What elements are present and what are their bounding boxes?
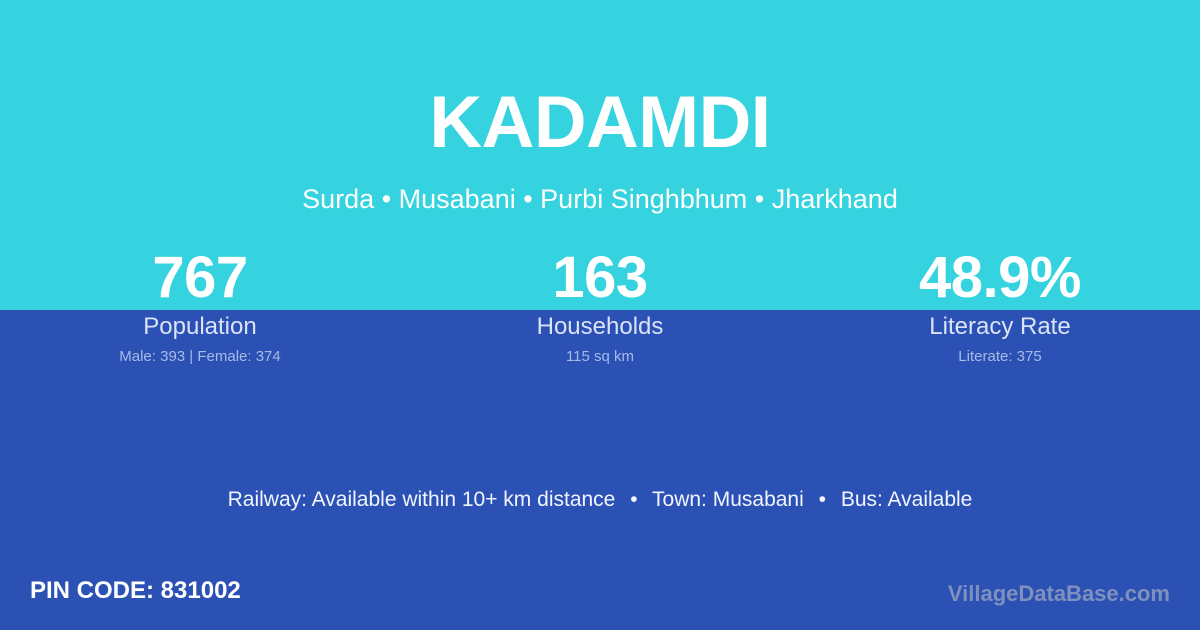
info-separator-2: • (810, 488, 835, 511)
stat-population: 767 Population Male: 393 | Female: 374 (0, 247, 400, 366)
stat-households: 163 Households 115 sq km (400, 247, 800, 366)
info-separator-1: • (621, 488, 646, 511)
population-label: Population (0, 313, 400, 341)
literacy-rate-label: Literacy Rate (800, 313, 1200, 341)
pin-code: PIN CODE: 831002 (30, 576, 241, 606)
transport-info-row: Railway: Available within 10+ km distanc… (0, 486, 1200, 514)
area-value: 115 sq km (400, 348, 800, 366)
railway-info: Railway: Available within 10+ km distanc… (228, 488, 616, 511)
population-breakdown: Male: 393 | Female: 374 (0, 348, 400, 366)
literate-count: Literate: 375 (800, 348, 1200, 366)
town-info: Town: Musabani (652, 488, 804, 511)
location-breadcrumb: Surda • Musabani • Purbi Singhbhum • Jha… (0, 183, 1200, 215)
page-title: KADAMDI (0, 86, 1200, 159)
village-info-card: KADAMDI Surda • Musabani • Purbi Singhbh… (0, 0, 1200, 630)
literacy-rate-value: 48.9% (800, 247, 1200, 309)
households-value: 163 (400, 247, 800, 309)
households-label: Households (400, 313, 800, 341)
bus-info: Bus: Available (841, 488, 973, 511)
stat-literacy-rate: 48.9% Literacy Rate Literate: 375 (800, 247, 1200, 366)
stats-row: 767 Population Male: 393 | Female: 374 1… (0, 247, 1200, 366)
population-value: 767 (0, 247, 400, 309)
site-brand: VillageDataBase.com (948, 580, 1170, 608)
